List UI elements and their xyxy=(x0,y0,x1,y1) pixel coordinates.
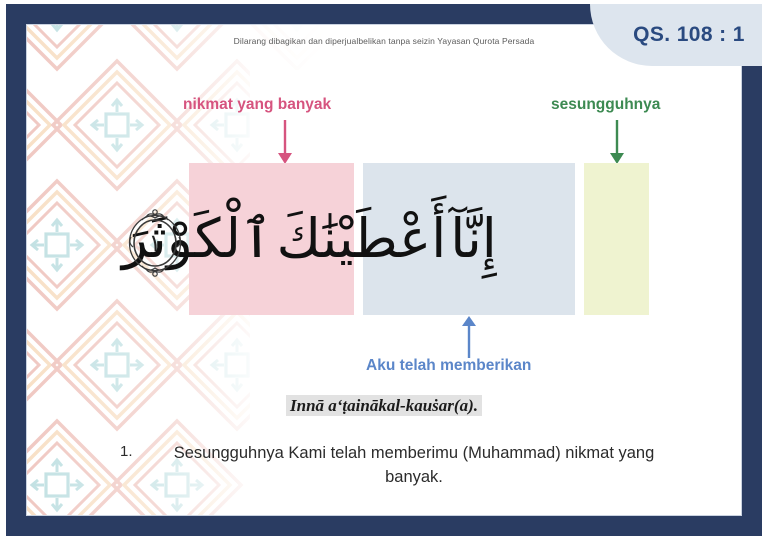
transliteration-text: Innā a‘ṭainākal-kauṡar(a). xyxy=(286,395,482,416)
content-backdrop xyxy=(250,70,730,500)
annotation-label-sesungguhnya: sesungguhnya xyxy=(551,96,660,114)
translation-number: 1. xyxy=(120,442,168,460)
annotation-arrow-down-pink xyxy=(275,120,295,171)
annotation-arrow-up-blue xyxy=(459,316,479,363)
transliteration-line: Innā a‘ṭainākal-kauṡar(a). xyxy=(0,396,768,416)
quran-verse-slide: Dilarang dibagikan dan diperjualbelikan … xyxy=(0,0,768,544)
translation-text: Sesungguhnya Kami telah memberimu (Muham… xyxy=(168,442,660,490)
ayah-number-value: ١ xyxy=(127,207,183,279)
surah-verse-badge-label: QS. 108 : 1 xyxy=(633,23,745,47)
annotation-label-nikmat-yang-banyak: nikmat yang banyak xyxy=(183,96,331,114)
annotation-arrow-down-green xyxy=(607,120,627,171)
translation-block: 1. Sesungguhnya Kami telah memberimu (Mu… xyxy=(120,442,660,490)
ayah-number-ornament: ١ xyxy=(127,207,183,279)
annotation-label-aku-telah-memberikan: Aku telah memberikan xyxy=(366,357,531,375)
